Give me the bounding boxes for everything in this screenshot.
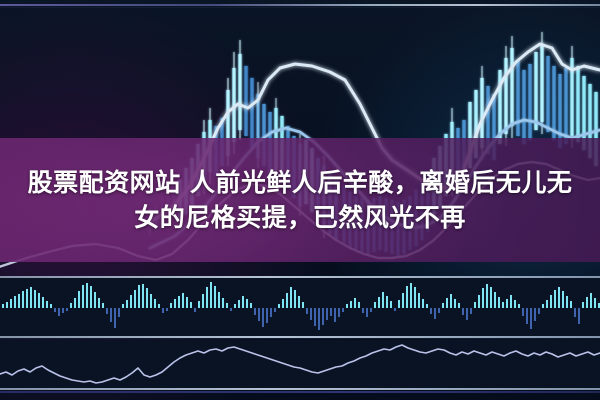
stock-chart-banner: 股票配资网站 人前光鲜人后辛酸，离婚后无儿无 女的尼格买提，已然风光不再 (0, 0, 600, 400)
headline-block: 股票配资网站 人前光鲜人后辛酸，离婚后无儿无 女的尼格买提，已然风光不再 (0, 138, 600, 262)
headline-line-1: 股票配资网站 人前光鲜人后辛酸，离婚后无儿无 (28, 168, 573, 198)
secondary-line-panel (0, 340, 600, 388)
bottom-accent-rule (0, 391, 600, 393)
line-series-svg (0, 340, 600, 388)
panel-separator-mid-shadow (0, 338, 600, 339)
panel-separator-bottom (0, 388, 600, 390)
top-accent-rule-shadow (0, 7, 600, 8)
top-accent-rule (0, 4, 600, 6)
macd-svg (0, 278, 600, 336)
headline-line-2: 女的尼格买提，已然风光不再 (134, 203, 466, 233)
macd-histogram-panel (0, 278, 600, 336)
